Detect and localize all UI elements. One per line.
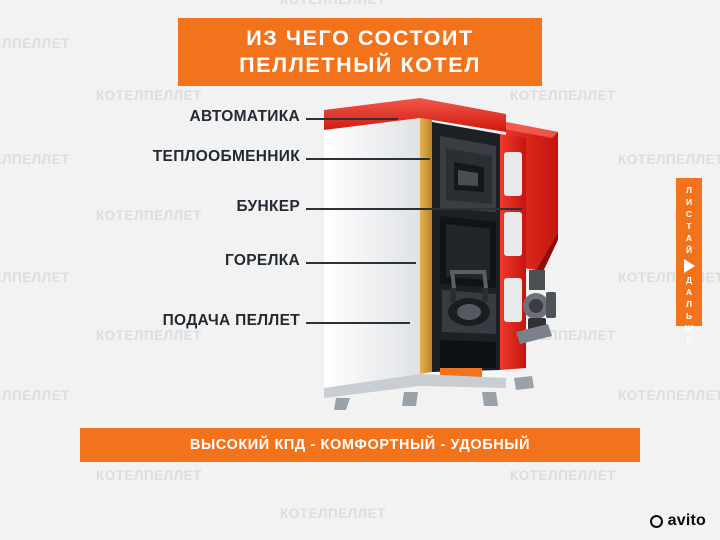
callout-label-teploobmennik: ТЕПЛООБМЕННИК <box>96 148 300 166</box>
watermark-text: КОТЕЛПЕЛЛЕТ <box>96 328 202 343</box>
watermark-text: КОТЕЛПЕЛЛЕТ <box>618 388 720 403</box>
watermark-text: КОТЕЛПЕЛЛЕТ <box>0 388 70 403</box>
pellet-boiler-illustration <box>300 92 600 412</box>
watermark-text: КОТЕЛПЕЛЛЕТ <box>0 270 70 285</box>
watermark-text: КОТЕЛПЕЛЛЕТ <box>280 0 386 7</box>
watermark-text: КОТЕЛПЕЛЛЕТ <box>280 506 386 521</box>
tagline-banner: ВЫСОКИЙ КПД - КОМФОРТНЫЙ - УДОБНЫЙ <box>80 428 640 462</box>
callout-leader-automatika <box>306 118 398 120</box>
watermark-text: КОТЕЛПЕЛЛЕТ <box>0 36 70 51</box>
watermark-text: КОТЕЛПЕЛЛЕТ <box>618 152 720 167</box>
swipe-cta-line-2: ДАЛЬШЕ <box>684 275 694 347</box>
watermark-text: КОТЕЛПЕЛЛЕТ <box>0 152 70 167</box>
watermark-text: КОТЕЛПЕЛЛЕТ <box>96 468 202 483</box>
play-triangle-icon <box>684 259 695 273</box>
callout-leader-gorelka <box>306 262 416 264</box>
callout-label-podacha-pellet: ПОДАЧА ПЕЛЛЕТ <box>110 312 300 330</box>
watermark-text: КОТЕЛПЕЛЛЕТ <box>96 88 202 103</box>
avito-logo: avito <box>650 512 706 530</box>
watermark-text: КОТЕЛПЕЛЛЕТ <box>510 468 616 483</box>
title-banner: ИЗ ЧЕГО СОСТОИТ ПЕЛЛЕТНЫЙ КОТЕЛ <box>178 18 542 86</box>
watermark-text: КОТЕЛПЕЛЛЕТ <box>618 270 720 285</box>
callout-label-gorelka: ГОРЕЛКА <box>150 252 300 270</box>
tagline-text: ВЫСОКИЙ КПД - КОМФОРТНЫЙ - УДОБНЫЙ <box>190 437 530 453</box>
swipe-cta-line-1: ЛИСТАЙ <box>684 185 694 257</box>
callout-label-automatika: АВТОМАТИКА <box>130 108 300 126</box>
callout-leader-teploobmennik <box>306 158 430 160</box>
title-line-1: ИЗ ЧЕГО СОСТОИТ <box>246 25 474 52</box>
callout-leader-podacha-pellet <box>306 322 410 324</box>
swipe-next-cta[interactable]: ЛИСТАЙ ДАЛЬШЕ <box>676 178 702 326</box>
poster-canvas: КОТЕЛПЕЛЛЕТ КОТЕЛПЕЛЛЕТ КОТЕЛПЕЛЛЕТ КОТЕ… <box>0 0 720 540</box>
avito-dot-icon <box>650 515 663 528</box>
title-line-2: ПЕЛЛЕТНЫЙ КОТЕЛ <box>239 52 481 79</box>
avito-wordmark: avito <box>668 512 706 530</box>
callout-leader-bunker <box>306 208 522 210</box>
callout-label-bunker: БУНКЕР <box>150 198 300 216</box>
